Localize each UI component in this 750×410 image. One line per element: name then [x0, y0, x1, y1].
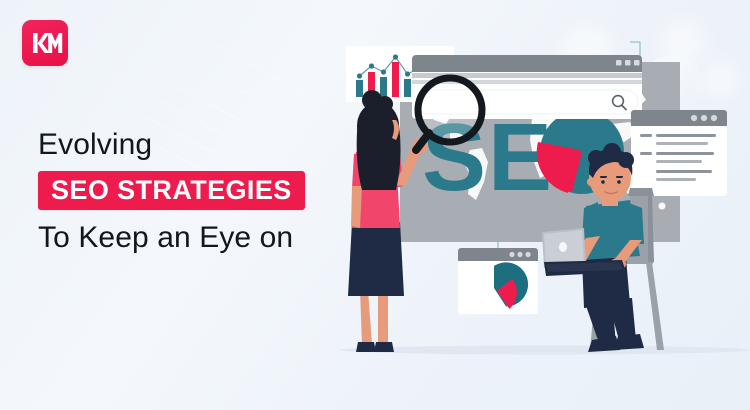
- km-logo[interactable]: [22, 20, 68, 66]
- floor-shadow: [340, 346, 750, 355]
- headline-banner-wrap: SEO STRATEGIES: [38, 171, 368, 210]
- pie-chart-card-dots[interactable]: [509, 252, 530, 257]
- km-logo-mark: [22, 20, 68, 66]
- headline-line-3: To Keep an Eye on: [38, 221, 368, 255]
- document-card-dots[interactable]: [691, 115, 717, 121]
- document-card[interactable]: [631, 110, 727, 196]
- pie-chart-card[interactable]: [458, 248, 538, 314]
- headline-highlight: SEO STRATEGIES: [38, 171, 305, 210]
- seo-illustration: SE: [330, 0, 750, 410]
- headline-block: Evolving SEO STRATEGIES To Keep an Eye o…: [38, 128, 368, 255]
- headline-line-1: Evolving: [38, 128, 368, 162]
- browser-window-dots[interactable]: [616, 60, 640, 66]
- seo-banner: Evolving SEO STRATEGIES To Keep an Eye o…: [0, 0, 750, 410]
